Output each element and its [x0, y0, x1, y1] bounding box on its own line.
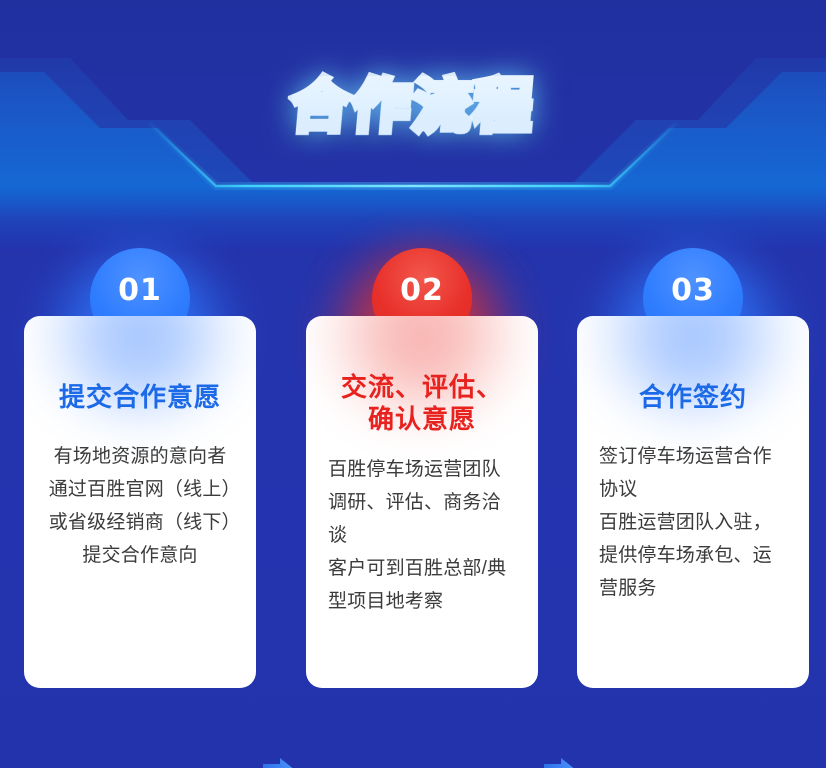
step-panel-03: 合作签约 签订停车场运营合作协议 百胜运营团队入驻，提供停车场承包、运营服务 — [577, 316, 809, 688]
step-description-03: 签订停车场运营合作协议 百胜运营团队入驻，提供停车场承包、运营服务 — [593, 440, 793, 605]
step-card-03[interactable]: 03 合作签约 签订停车场运营合作协议 百胜运营团队入驻，提供停车场承包、运营服… — [577, 248, 809, 690]
page-title: 合作流程 — [0, 76, 826, 137]
arrow-right-icon — [262, 756, 296, 768]
banner-glow-edge — [0, 0, 826, 250]
step-content-01: 提交合作意愿 有场地资源的意向者通过百胜官网（线上）或省级经销商（线下）提交合作… — [24, 382, 256, 572]
banner-band-fade — [0, 186, 826, 250]
banner-band-main — [0, 0, 826, 250]
step-number-03: 03 — [671, 273, 715, 308]
banner-decoration — [0, 0, 826, 250]
step-title-03: 合作签约 — [593, 382, 793, 414]
step-description-02: 百胜停车场运营团队调研、评估、商务洽谈 客户可到百胜总部/典型项目地考察 — [322, 453, 522, 618]
page-title-text: 合作流程 — [288, 76, 537, 137]
step-card-01[interactable]: 01 提交合作意愿 有场地资源的意向者通过百胜官网（线上）或省级经销商（线下）提… — [24, 248, 256, 690]
step-panel-02: 交流、评估、 确认意愿 百胜停车场运营团队调研、评估、商务洽谈 客户可到百胜总部… — [306, 316, 538, 688]
arrow-right-icon — [543, 756, 577, 768]
banner-band-back — [0, 0, 826, 250]
process-steps: 01 提交合作意愿 有场地资源的意向者通过百胜官网（线上）或省级经销商（线下）提… — [0, 248, 826, 698]
step-panel-01: 提交合作意愿 有场地资源的意向者通过百胜官网（线上）或省级经销商（线下）提交合作… — [24, 316, 256, 688]
step-content-03: 合作签约 签订停车场运营合作协议 百胜运营团队入驻，提供停车场承包、运营服务 — [577, 382, 809, 605]
step-number-01: 01 — [118, 273, 162, 308]
step-card-02[interactable]: 02 交流、评估、 确认意愿 百胜停车场运营团队调研、评估、商务洽谈 客户可到百… — [306, 248, 538, 690]
page-root: 合作流程 01 提交合作意愿 有场地资源的意向者通过百胜官网（线上）或省级经销商… — [0, 0, 826, 768]
step-description-01: 有场地资源的意向者通过百胜官网（线上）或省级经销商（线下）提交合作意向 — [40, 440, 240, 572]
step-content-02: 交流、评估、 确认意愿 百胜停车场运营团队调研、评估、商务洽谈 客户可到百胜总部… — [306, 372, 538, 618]
step-title-02: 交流、评估、 确认意愿 — [322, 372, 522, 435]
step-title-01: 提交合作意愿 — [40, 382, 240, 414]
step-number-02: 02 — [400, 273, 444, 308]
